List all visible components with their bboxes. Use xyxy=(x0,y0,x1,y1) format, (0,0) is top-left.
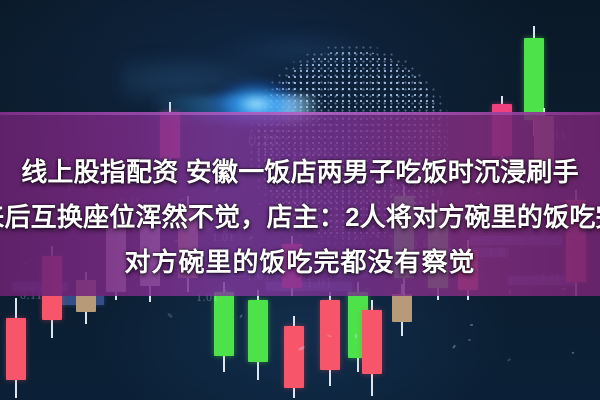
banner-image: 0.110.110.210.111.011.013.111.111.110.11… xyxy=(0,0,600,400)
sparkle-particle xyxy=(470,323,473,325)
candlestick xyxy=(248,290,268,380)
candlestick xyxy=(320,292,340,386)
headline-line-1: 线上股指配资 安徽一饭店两男子吃饭时沉浸刷手 xyxy=(0,150,600,195)
candle-body xyxy=(362,310,382,374)
candle-body xyxy=(248,300,268,362)
headline-line-3: 对方碗里的饭吃完都没有察觉 xyxy=(0,240,600,285)
headline-line-2: 来后互换座位浑然不觉，店主：2人将对方碗里的饭吃完 xyxy=(0,195,600,240)
candlestick xyxy=(362,300,382,396)
candlestick xyxy=(6,298,26,398)
headline-text: 线上股指配资 安徽一饭店两男子吃饭时沉浸刷手 来后互换座位浑然不觉，店主：2人将… xyxy=(0,150,600,285)
candle-body xyxy=(284,326,304,388)
band-top-highlight xyxy=(0,112,600,115)
candle-body xyxy=(392,294,412,322)
sparkle-particle xyxy=(354,333,357,339)
candle-body xyxy=(6,318,26,380)
candlestick xyxy=(284,316,304,398)
